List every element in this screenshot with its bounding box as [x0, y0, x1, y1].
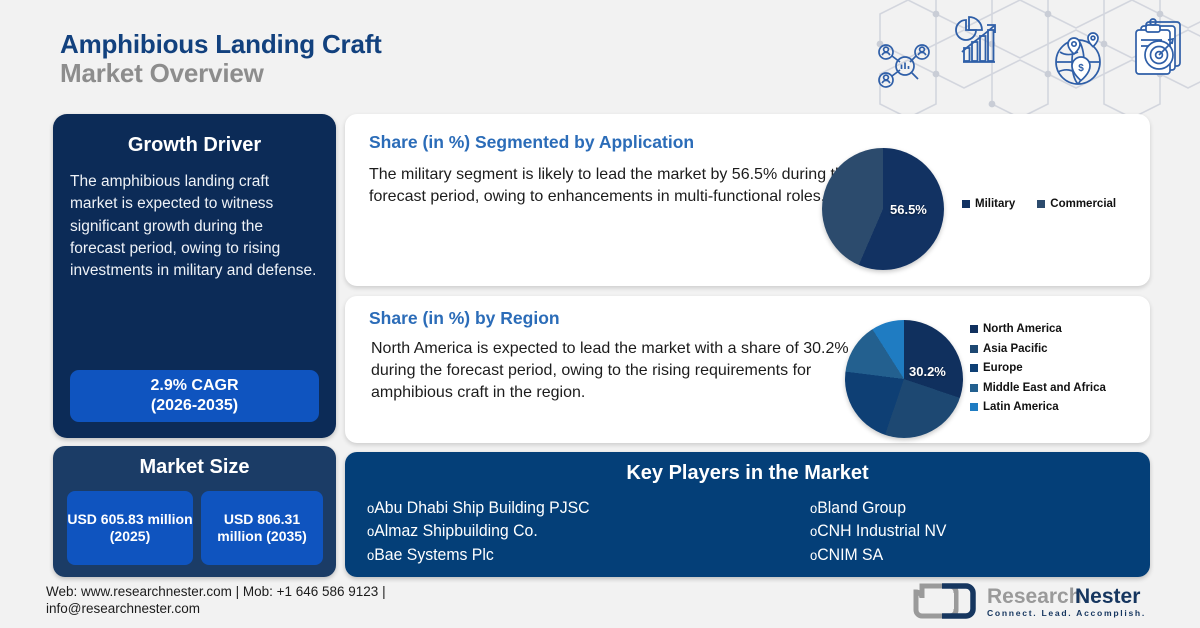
key-players-card: Key Players in the Market oAbu Dhabi Shi…	[345, 452, 1150, 577]
region-pie-label: 30.2%	[909, 364, 946, 379]
key-players-title: Key Players in the Market	[345, 462, 1150, 485]
legend-item: Europe	[970, 362, 1106, 374]
market-size-value-2025: USD 605.83 million (2025)	[67, 491, 193, 565]
legend-swatch-icon	[970, 384, 978, 392]
clipboard-target-icon	[1136, 19, 1180, 74]
key-player-name: Bland Group	[817, 498, 906, 517]
footer-contact: Web: www.researchnester.com | Mob: +1 64…	[46, 583, 566, 618]
region-card-title: Share (in %) by Region	[369, 308, 560, 329]
key-player-item: oCNH Industrial NV	[810, 519, 1106, 542]
legend-swatch-icon	[962, 200, 970, 208]
legend-label: Asia Pacific	[983, 343, 1048, 355]
legend-swatch-icon	[1037, 200, 1045, 208]
legend-item: Latin America	[970, 401, 1106, 413]
application-pie-label: 56.5%	[890, 202, 927, 217]
research-nester-logo: Research Nester Connect. Lead. Accomplis…	[912, 580, 1152, 622]
page-title-line1: Amphibious Landing Craft	[60, 30, 382, 58]
globe-markers-icon: $	[1056, 33, 1100, 84]
legend-label: Military	[975, 198, 1015, 210]
legend-swatch-icon	[970, 325, 978, 333]
key-player-item: oBae Systems Plc	[367, 543, 721, 566]
key-player-name: Bae Systems Plc	[374, 545, 494, 564]
legend-label: North America	[983, 323, 1062, 335]
legend-swatch-icon	[970, 364, 978, 372]
infographic-page: $ Amphibious Landing Craft Market Overvi	[0, 0, 1200, 628]
legend-swatch-icon	[970, 345, 978, 353]
cagr-badge: 2.9% CAGR (2026-2035)	[70, 370, 319, 422]
page-title-line2: Market Overview	[60, 58, 382, 89]
legend-swatch-icon	[970, 403, 978, 411]
key-player-name: Abu Dhabi Ship Building PJSC	[374, 498, 589, 517]
bullet-icon: o	[367, 500, 374, 516]
bullet-icon: o	[367, 523, 374, 539]
legend-item: Military	[962, 198, 1015, 210]
legend-item: Middle East and Africa	[970, 382, 1106, 394]
growth-driver-body: The amphibious landing craft market is e…	[70, 171, 319, 283]
bullet-icon: o	[810, 523, 817, 539]
growth-driver-card: Growth Driver The amphibious landing cra…	[53, 114, 336, 438]
cagr-value: 2.9% CAGR	[150, 376, 238, 396]
legend-label: Commercial	[1050, 198, 1116, 210]
legend-item: Asia Pacific	[970, 343, 1106, 355]
key-player-item: oCNIM SA	[810, 543, 1106, 566]
hexagon-decoration: $	[850, 0, 1200, 118]
footer-line-1: Web: www.researchnester.com | Mob: +1 64…	[46, 583, 566, 600]
legend-label: Latin America	[983, 401, 1059, 413]
key-player-name: CNIM SA	[817, 545, 883, 564]
legend-label: Europe	[983, 362, 1023, 374]
region-card-body: North America is expected to lead the ma…	[371, 338, 851, 404]
key-players-column-left: oAbu Dhabi Ship Building PJSCoAlmaz Ship…	[367, 496, 748, 566]
svg-text:Connect. Lead. Accomplish.: Connect. Lead. Accomplish.	[987, 608, 1146, 618]
market-size-card: Market Size USD 605.83 million (2025) US…	[53, 446, 336, 577]
key-player-name: Almaz Shipbuilding Co.	[374, 521, 537, 540]
svg-text:Research: Research	[987, 585, 1082, 608]
region-pie-chart: 30.2%	[845, 320, 963, 438]
legend-label: Middle East and Africa	[983, 382, 1106, 394]
region-pie-legend: North AmericaAsia PacificEuropeMiddle Ea…	[970, 323, 1106, 413]
market-size-value-2035: USD 806.31 million (2035)	[201, 491, 323, 565]
application-card-title: Share (in %) Segmented by Application	[369, 132, 694, 153]
growth-driver-title: Growth Driver	[70, 134, 319, 157]
bullet-icon: o	[367, 547, 374, 563]
footer-line-2: info@researchnester.com	[46, 600, 566, 617]
page-header: Amphibious Landing Craft Market Overview	[60, 30, 382, 89]
svg-text:$: $	[1078, 63, 1084, 74]
legend-item: North America	[970, 323, 1106, 335]
bullet-icon: o	[810, 500, 817, 516]
key-player-item: oAbu Dhabi Ship Building PJSC	[367, 496, 721, 519]
key-player-item: oAlmaz Shipbuilding Co.	[367, 519, 721, 542]
key-player-name: CNH Industrial NV	[817, 521, 946, 540]
key-player-item: oBland Group	[810, 496, 1106, 519]
legend-item: Commercial	[1037, 198, 1116, 210]
application-card-body: The military segment is likely to lead t…	[369, 164, 859, 208]
logo-mark-icon	[916, 586, 973, 616]
market-size-title: Market Size	[53, 456, 336, 479]
pie-bar-growth-chart-icon	[956, 17, 995, 62]
key-players-column-right: oBland GroupoCNH Industrial NVoCNIM SA	[748, 496, 1129, 566]
cagr-period: (2026-2035)	[150, 396, 238, 416]
application-pie-chart: 56.5%	[822, 148, 944, 270]
bullet-icon: o	[810, 547, 817, 563]
svg-text:Nester: Nester	[1075, 585, 1140, 608]
application-pie-legend: MilitaryCommercial	[962, 198, 1116, 210]
